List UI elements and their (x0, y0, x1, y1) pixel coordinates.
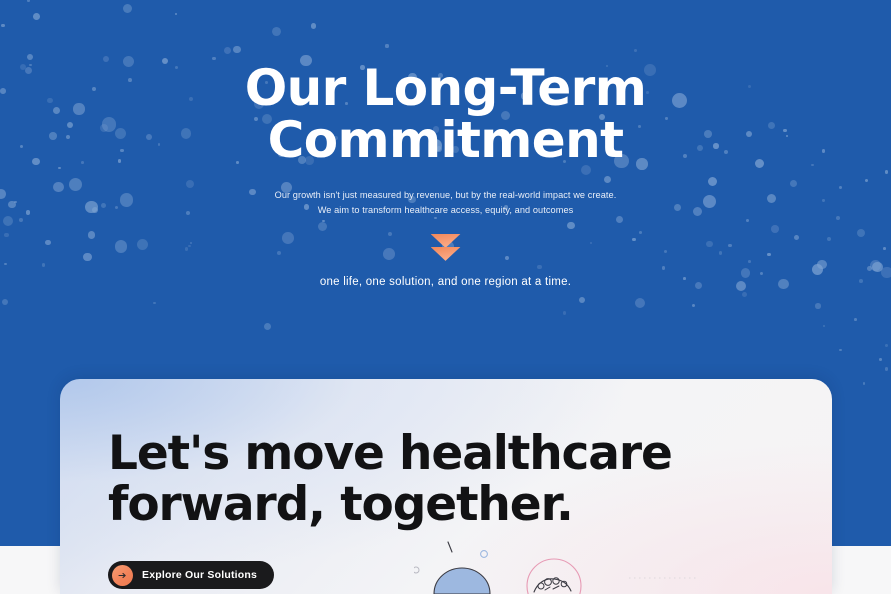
double-chevron-down-icon (431, 234, 461, 264)
background-dot (579, 297, 585, 303)
background-dot (563, 311, 567, 315)
hero-tagline: one life, one solution, and one region a… (0, 276, 891, 288)
background-dot (635, 298, 645, 308)
cta-card: Let's move healthcare forward, together.… (60, 379, 832, 594)
explore-our-solutions-button[interactable]: Explore Our Solutions (108, 561, 274, 589)
page-root: Our Long-Term Commitment Our growth isn'… (0, 0, 891, 594)
line-art-people-illustration (414, 534, 714, 594)
background-dot (885, 344, 888, 347)
explore-our-solutions-label: Explore Our Solutions (142, 569, 257, 581)
background-dot (692, 304, 695, 307)
chevron-down-icon-top (431, 234, 461, 248)
chevron-down-icon-bottom (431, 247, 461, 261)
background-dot (823, 325, 826, 328)
hero-content: Our Long-Term Commitment Our growth isn'… (0, 0, 891, 288)
background-dot (863, 382, 865, 384)
background-dot (815, 303, 820, 308)
cta-card-title-line-1: Let's move healthcare (108, 426, 672, 481)
hero-title-line-2: Commitment (0, 114, 891, 166)
background-dot (153, 302, 156, 305)
cta-card-title: Let's move healthcare forward, together. (108, 429, 672, 531)
page-title: Our Long-Term Commitment (0, 0, 891, 166)
arrow-right-icon (112, 565, 133, 586)
background-dot (742, 292, 747, 297)
background-dot (885, 367, 889, 371)
background-dot (264, 323, 271, 330)
cta-card-title-line-2: forward, together. (108, 480, 672, 531)
hero-title-line-1: Our Long-Term (245, 59, 647, 117)
hero-subtitle: Our growth isn't just measured by revenu… (268, 188, 624, 218)
background-dot (879, 358, 882, 361)
background-dot (854, 318, 857, 321)
background-dot (839, 349, 842, 352)
background-dot (2, 299, 8, 305)
